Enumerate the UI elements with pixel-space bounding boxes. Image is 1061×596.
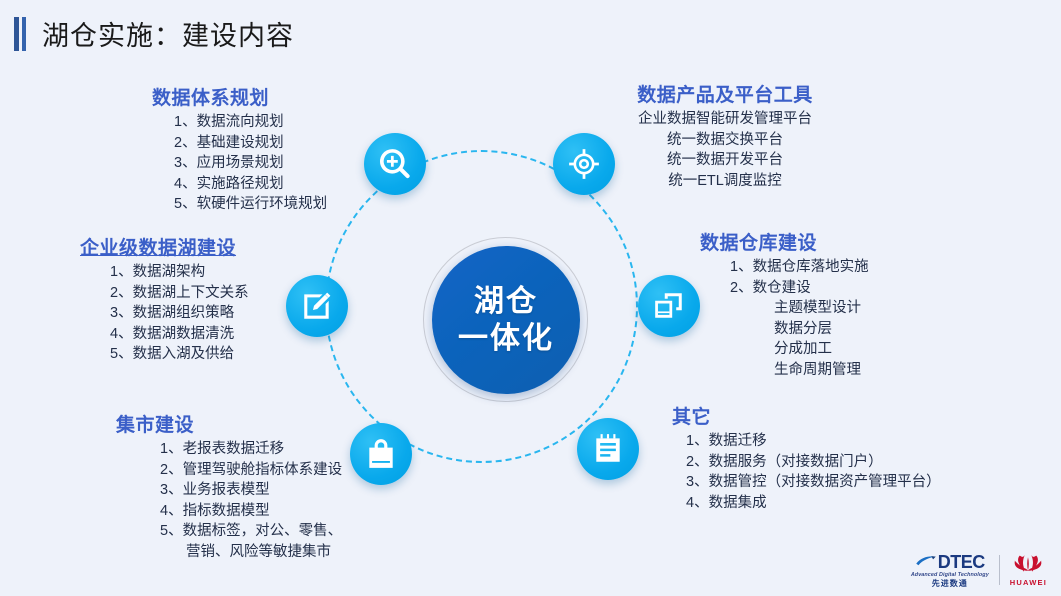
section-heading: 数据体系规划 [152,83,327,110]
list-item: 5、软硬件运行环境规划 [174,194,327,215]
huawei-flower-icon [1011,554,1045,576]
huawei-logo: HUAWEI [1010,554,1047,587]
zoom-in-icon [378,147,412,181]
list-item: 企业数据智能研发管理平台 [600,109,850,130]
section-top-right: 数据产品及平台工具 企业数据智能研发管理平台 统一数据交换平台 统一数据开发平台… [600,80,850,191]
section-list: 1、数据迁移 2、数据服务（对接数据门户） 3、数据管控（对接数据资产管理平台）… [672,431,941,513]
center-line-2: 一体化 [458,320,554,358]
section-heading: 其它 [672,402,941,429]
section-list: 1、数据湖架构 2、数据湖上下文关系 3、数据湖组织策略 4、数据湖数据清洗 5… [80,262,249,365]
section-heading: 企业级数据湖建设 [80,233,249,260]
section-bottom-left: 集市建设 1、老报表数据迁移 2、管理驾驶舱指标体系建设 3、业务报表模型 4、… [116,410,342,562]
list-item: 5、数据标签，对公、零售、 [160,521,342,542]
dtec-logo: DTEC Advanced Digital Technology 先进数通 [911,553,989,588]
list-item: 2、管理驾驶舱指标体系建设 [160,460,342,481]
list-item: 4、数据集成 [686,493,941,514]
list-item: 2、数据湖上下文关系 [110,283,249,304]
title-accent-bars [14,17,26,51]
list-item: 生命周期管理 [730,360,869,381]
dtec-wordmark: DTEC [938,553,985,571]
edit-square-icon [300,289,334,323]
title-text: 湖仓实施：建设内容 [42,14,294,53]
list-item: 3、应用场景规划 [174,153,327,174]
list-item: 2、数据服务（对接数据门户） [686,452,941,473]
dtec-chinese-name: 先进数通 [932,580,968,588]
checklist-note-icon [591,432,625,466]
section-list: 1、数据流向规划 2、基础建设规划 3、应用场景规划 4、实施路径规划 5、软硬… [152,112,327,215]
list-item: 统一数据交换平台 [600,130,850,151]
list-item: 2、基础建设规划 [174,133,327,154]
section-bottom-right: 其它 1、数据迁移 2、数据服务（对接数据门户） 3、数据管控（对接数据资产管理… [672,402,941,513]
node-bottom-right[interactable] [577,418,639,480]
section-right: 数据仓库建设 1、数据仓库落地实施 2、数仓建设 主题模型设计 数据分层 分成加… [700,228,869,380]
node-bottom-left[interactable] [350,423,412,485]
section-list: 企业数据智能研发管理平台 统一数据交换平台 统一数据开发平台 统一ETL调度监控 [600,109,850,191]
list-item: 1、数据仓库落地实施 [730,257,869,278]
dtec-swoosh-icon [915,555,937,568]
huawei-wordmark: HUAWEI [1010,579,1047,587]
list-item: 分成加工 [730,339,869,360]
center-line-1: 湖仓 [474,283,538,321]
list-item: 2、数仓建设 [730,278,869,299]
list-item: 营销、风险等敏捷集市 [160,542,342,563]
list-item: 1、数据湖架构 [110,262,249,283]
section-top-left: 数据体系规划 1、数据流向规划 2、基础建设规划 3、应用场景规划 4、实施路径… [152,83,327,215]
page-title: 湖仓实施：建设内容 [14,14,294,53]
list-item: 3、业务报表模型 [160,480,342,501]
list-item: 主题模型设计 [730,298,869,319]
dtec-tagline: Advanced Digital Technology [911,573,989,578]
section-heading: 集市建设 [116,410,342,437]
section-list: 1、数据仓库落地实施 2、数仓建设 主题模型设计 数据分层 分成加工 生命周期管… [700,257,869,380]
section-heading: 数据仓库建设 [700,228,869,255]
list-item: 3、数据湖组织策略 [110,303,249,324]
list-item: 数据分层 [730,319,869,340]
footer-logos: DTEC Advanced Digital Technology 先进数通 HU… [911,553,1047,588]
node-right[interactable] [638,275,700,337]
section-left: 企业级数据湖建设 1、数据湖架构 2、数据湖上下文关系 3、数据湖组织策略 4、… [80,233,249,365]
center-circle: 湖仓 一体化 [432,246,580,394]
crosshair-target-icon [567,147,601,181]
list-item: 统一数据开发平台 [600,150,850,171]
list-item: 4、指标数据模型 [160,501,342,522]
list-item: 1、老报表数据迁移 [160,439,342,460]
section-heading: 数据产品及平台工具 [600,80,850,107]
logo-divider [999,555,1000,585]
list-item: 1、数据迁移 [686,431,941,452]
list-item: 5、数据入湖及供给 [110,344,249,365]
list-item: 3、数据管控（对接数据资产管理平台） [686,472,941,493]
slide-root: 湖仓实施：建设内容 湖仓 一体化 [0,0,1061,596]
copy-layers-icon [652,289,686,323]
section-list: 1、老报表数据迁移 2、管理驾驶舱指标体系建设 3、业务报表模型 4、指标数据模… [116,439,342,562]
list-item: 4、实施路径规划 [174,174,327,195]
list-item: 统一ETL调度监控 [600,171,850,192]
shopping-bag-icon [364,437,398,471]
node-left[interactable] [286,275,348,337]
list-item: 1、数据流向规划 [174,112,327,133]
node-top-left[interactable] [364,133,426,195]
list-item: 4、数据湖数据清洗 [110,324,249,345]
